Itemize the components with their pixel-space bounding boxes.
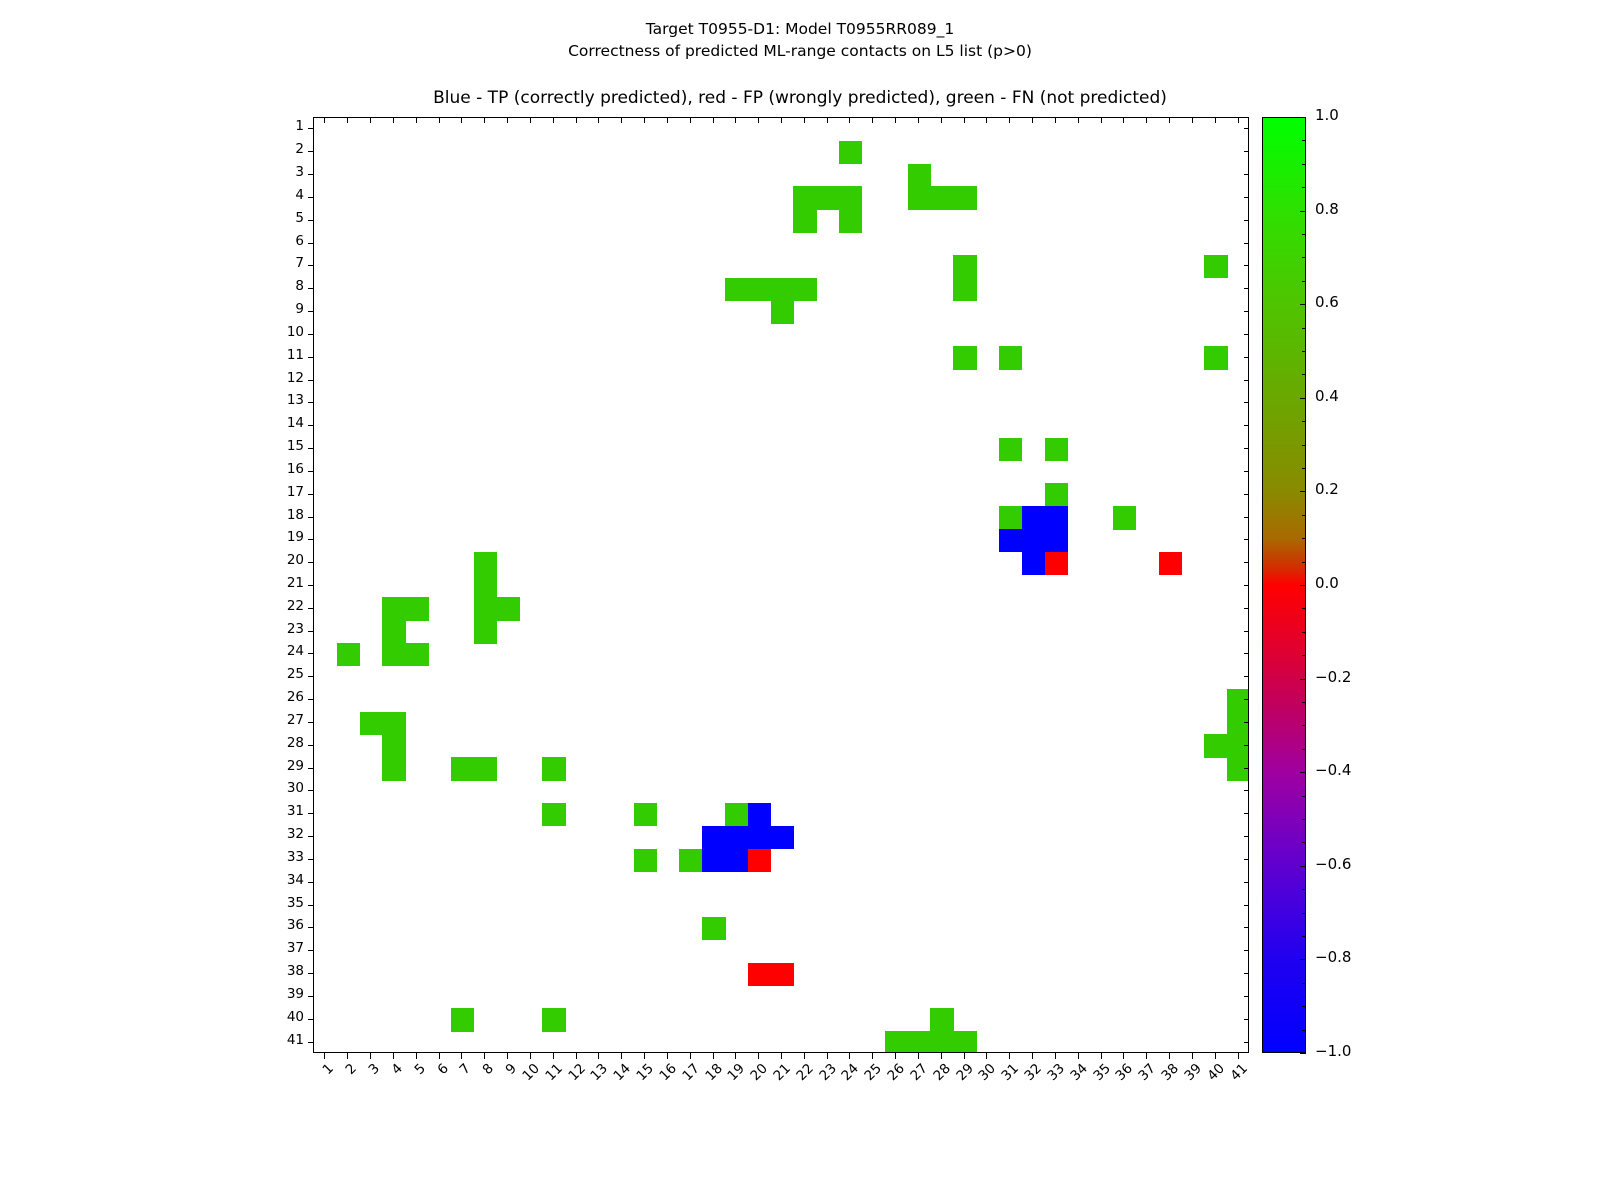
y-tick-mark [308, 562, 313, 563]
x-tick-mark-top [370, 117, 371, 123]
x-tick-mark-top [1169, 117, 1170, 123]
x-tick-mark [1009, 1053, 1010, 1059]
x-tick-mark-top [644, 117, 645, 123]
colorbar-minor-tick [1302, 936, 1306, 937]
y-tick-label: 6 [295, 235, 304, 249]
y-tick-label: 40 [287, 1011, 304, 1025]
y-tick-mark [308, 128, 313, 129]
contact-cell [771, 963, 794, 986]
x-tick-mark-top [895, 117, 896, 123]
y-tick-mark [308, 311, 313, 312]
contact-cell [451, 1008, 474, 1031]
y-tick-mark-right [1244, 790, 1249, 791]
y-tick-label: 9 [295, 303, 304, 317]
colorbar-tick-label: 0.6 [1315, 295, 1339, 310]
colorbar-minor-tick [1302, 1030, 1306, 1031]
x-tick-mark [553, 1053, 554, 1059]
colorbar-tick-mark [1300, 959, 1306, 960]
contact-cell [1204, 734, 1227, 757]
y-tick-label: 11 [287, 349, 304, 363]
colorbar-tick-mark [1300, 491, 1306, 492]
contact-cell [1227, 734, 1249, 757]
contact-cell [793, 278, 816, 301]
contact-cell [1204, 255, 1227, 278]
x-tick-mark-top [1055, 117, 1056, 123]
x-tick-mark-top [324, 117, 325, 123]
colorbar-minor-tick [1302, 234, 1306, 235]
contact-cell [748, 849, 771, 872]
x-tick-mark-top [1078, 117, 1079, 123]
y-tick-label: 41 [287, 1034, 304, 1048]
y-tick-mark [308, 813, 313, 814]
y-tick-mark [308, 517, 313, 518]
contact-cell [793, 209, 816, 232]
y-tick-mark-right [1244, 882, 1249, 883]
contact-cell [953, 278, 976, 301]
y-tick-mark-right [1244, 220, 1249, 221]
contact-cell [542, 757, 565, 780]
y-tick-label: 12 [287, 372, 304, 386]
colorbar-tick-mark [1300, 866, 1306, 867]
y-tick-label: 1 [295, 120, 304, 134]
y-tick-mark [308, 288, 313, 289]
y-tick-label: 19 [287, 531, 304, 545]
contact-cell [908, 186, 931, 209]
y-tick-mark-right [1244, 608, 1249, 609]
x-tick-mark [370, 1053, 371, 1059]
y-tick-label: 3 [295, 166, 304, 180]
y-tick-label: 2 [295, 143, 304, 157]
contact-cell [839, 141, 862, 164]
x-tick-mark [507, 1053, 508, 1059]
x-tick-mark-top [690, 117, 691, 123]
contact-cell [999, 529, 1022, 552]
y-tick-label: 30 [287, 782, 304, 796]
y-tick-label: 35 [287, 897, 304, 911]
contact-cell [702, 917, 725, 940]
x-tick-mark [1101, 1053, 1102, 1059]
x-tick-mark [530, 1053, 531, 1059]
x-tick-mark [1169, 1053, 1170, 1059]
contact-cell [748, 803, 771, 826]
contact-cell [451, 757, 474, 780]
x-tick-mark-top [986, 117, 987, 123]
x-tick-mark-top [781, 117, 782, 123]
contact-cell [748, 963, 771, 986]
y-tick-label: 7 [295, 257, 304, 271]
x-tick-mark-top [1215, 117, 1216, 123]
y-tick-mark-right [1244, 402, 1249, 403]
y-tick-mark-right [1244, 265, 1249, 266]
axes-title-legend: Blue - TP (correctly predicted), red - F… [0, 88, 1600, 108]
contact-cell [816, 186, 839, 209]
y-tick-mark [308, 471, 313, 472]
colorbar-tick-label: −0.2 [1315, 670, 1351, 685]
y-tick-mark [308, 494, 313, 495]
y-tick-mark-right [1244, 151, 1249, 152]
y-tick-mark [308, 402, 313, 403]
x-tick-mark [895, 1053, 896, 1059]
contact-cell [702, 826, 725, 849]
y-tick-mark [308, 1042, 313, 1043]
y-tick-label: 34 [287, 874, 304, 888]
colorbar-tick-mark [1300, 679, 1306, 680]
contact-cell [930, 186, 953, 209]
colorbar-tick-mark [1300, 772, 1306, 773]
y-tick-mark-right [1244, 448, 1249, 449]
x-tick-mark [918, 1053, 919, 1059]
x-tick-mark [347, 1053, 348, 1059]
x-tick-mark [804, 1053, 805, 1059]
colorbar-minor-tick [1302, 140, 1306, 141]
colorbar-tick-label: −1.0 [1315, 1044, 1351, 1059]
y-tick-label: 37 [287, 942, 304, 956]
y-tick-label: 27 [287, 714, 304, 728]
y-tick-label: 24 [287, 645, 304, 659]
x-tick-mark [416, 1053, 417, 1059]
x-tick-mark-top [484, 117, 485, 123]
x-tick-mark [576, 1053, 577, 1059]
colorbar-minor-tick [1302, 632, 1306, 633]
x-tick-mark-top [667, 117, 668, 123]
y-tick-mark [308, 243, 313, 244]
contact-cell [1227, 689, 1249, 712]
x-tick-mark [439, 1053, 440, 1059]
x-tick-mark [484, 1053, 485, 1059]
y-tick-mark-right [1244, 745, 1249, 746]
y-tick-mark [308, 676, 313, 677]
y-tick-label: 18 [287, 509, 304, 523]
contact-cell [1227, 712, 1249, 735]
contact-cell [930, 1031, 953, 1053]
colorbar-tick-mark [1300, 211, 1306, 212]
contact-cell [474, 620, 497, 643]
x-tick-mark-top [553, 117, 554, 123]
colorbar-tick-label: 0.0 [1315, 576, 1339, 591]
x-tick-mark [1238, 1053, 1239, 1059]
y-tick-mark-right [1244, 357, 1249, 358]
x-tick-mark [758, 1053, 759, 1059]
colorbar-tick-label: 0.4 [1315, 389, 1339, 404]
y-tick-mark [308, 768, 313, 769]
y-tick-label: 31 [287, 805, 304, 819]
y-tick-label: 28 [287, 737, 304, 751]
contact-map-cells [314, 118, 1248, 1052]
y-tick-mark [308, 174, 313, 175]
y-tick-mark-right [1244, 334, 1249, 335]
y-tick-mark-right [1244, 585, 1249, 586]
contact-cell [1045, 483, 1068, 506]
y-tick-mark-right [1244, 562, 1249, 563]
x-tick-mark [986, 1053, 987, 1059]
contact-cell [382, 620, 405, 643]
y-tick-mark-right [1244, 905, 1249, 906]
contact-cell [953, 346, 976, 369]
contact-cell [725, 826, 748, 849]
y-tick-mark [308, 1019, 313, 1020]
colorbar-tick-mark [1300, 304, 1306, 305]
y-tick-mark-right [1244, 653, 1249, 654]
colorbar-minor-tick [1302, 749, 1306, 750]
colorbar-minor-tick [1302, 562, 1306, 563]
colorbar-minor-tick [1302, 187, 1306, 188]
y-tick-label: 10 [287, 326, 304, 340]
x-tick-mark [621, 1053, 622, 1059]
colorbar-minor-tick [1302, 281, 1306, 282]
x-tick-mark [1146, 1053, 1147, 1059]
y-tick-mark [308, 608, 313, 609]
colorbar-tick-mark [1300, 1053, 1306, 1054]
contact-cell [1113, 506, 1136, 529]
contact-cell [953, 1031, 976, 1053]
y-tick-mark [308, 653, 313, 654]
figure-suptitle: Target T0955-D1: Model T0955RR089_1 Corr… [0, 18, 1600, 62]
x-tick-mark [827, 1053, 828, 1059]
y-tick-mark-right [1244, 1019, 1249, 1020]
contact-cell [999, 438, 1022, 461]
colorbar-minor-tick [1302, 374, 1306, 375]
contact-cell [542, 803, 565, 826]
colorbar-tick-label: −0.4 [1315, 763, 1351, 778]
y-tick-mark [308, 425, 313, 426]
x-tick-mark [1055, 1053, 1056, 1059]
y-tick-label: 33 [287, 851, 304, 865]
y-tick-mark-right [1244, 128, 1249, 129]
contact-cell [930, 1008, 953, 1031]
contact-cell [1159, 552, 1182, 575]
x-tick-mark-top [416, 117, 417, 123]
y-tick-mark-right [1244, 813, 1249, 814]
colorbar-tick-mark [1300, 398, 1306, 399]
x-tick-mark-top [849, 117, 850, 123]
x-tick-mark [667, 1053, 668, 1059]
y-tick-label: 23 [287, 623, 304, 637]
contact-map-plot[interactable] [313, 117, 1249, 1053]
y-tick-mark-right [1244, 836, 1249, 837]
y-tick-mark-right [1244, 950, 1249, 951]
colorbar-minor-tick [1302, 421, 1306, 422]
y-tick-mark [308, 882, 313, 883]
colorbar-minor-tick [1302, 655, 1306, 656]
x-tick-mark-top [1101, 117, 1102, 123]
y-tick-mark-right [1244, 197, 1249, 198]
contact-cell [382, 757, 405, 780]
contact-cell [1204, 346, 1227, 369]
colorbar-tick-label: 0.8 [1315, 202, 1339, 217]
x-tick-mark-top [439, 117, 440, 123]
x-tick-mark [964, 1053, 965, 1059]
y-tick-mark [308, 357, 313, 358]
x-tick-mark-top [941, 117, 942, 123]
colorbar-minor-tick [1302, 702, 1306, 703]
y-tick-mark-right [1244, 539, 1249, 540]
contact-cell [1022, 529, 1045, 552]
x-tick-mark [713, 1053, 714, 1059]
contact-cell [1045, 529, 1068, 552]
y-tick-label: 4 [295, 189, 304, 203]
x-tick-mark-top [1032, 117, 1033, 123]
contact-cell [908, 164, 931, 187]
y-tick-mark [308, 197, 313, 198]
contact-cell [1045, 506, 1068, 529]
x-tick-mark [849, 1053, 850, 1059]
colorbar-minor-tick [1302, 913, 1306, 914]
contact-cell [748, 826, 771, 849]
colorbar-minor-tick [1302, 796, 1306, 797]
x-tick-mark [1078, 1053, 1079, 1059]
contact-cell [474, 597, 497, 620]
y-tick-label: 17 [287, 486, 304, 500]
colorbar-tick-label: 0.2 [1315, 482, 1339, 497]
colorbar-minor-tick [1302, 351, 1306, 352]
y-tick-mark [308, 220, 313, 221]
x-tick-mark [781, 1053, 782, 1059]
x-tick-mark-top [530, 117, 531, 123]
contact-cell [382, 643, 405, 666]
contact-cell [382, 734, 405, 757]
y-tick-mark-right [1244, 380, 1249, 381]
y-tick-label: 25 [287, 668, 304, 682]
y-tick-mark-right [1244, 471, 1249, 472]
y-tick-label: 15 [287, 440, 304, 454]
colorbar-minor-tick [1302, 608, 1306, 609]
contact-cell [679, 849, 702, 872]
contact-cell [542, 1008, 565, 1031]
colorbar-minor-tick [1302, 1006, 1306, 1007]
x-tick-mark [941, 1053, 942, 1059]
x-tick-mark [1215, 1053, 1216, 1059]
x-tick-mark-top [872, 117, 873, 123]
y-tick-label: 29 [287, 760, 304, 774]
colorbar-minor-tick [1302, 468, 1306, 469]
contact-cell [748, 278, 771, 301]
contact-cell [725, 803, 748, 826]
y-tick-label: 5 [295, 212, 304, 226]
x-tick-mark-top [598, 117, 599, 123]
y-tick-label: 21 [287, 577, 304, 591]
colorbar-minor-tick [1302, 983, 1306, 984]
y-tick-mark [308, 905, 313, 906]
contact-cell [474, 757, 497, 780]
y-tick-mark [308, 722, 313, 723]
contact-cell [634, 849, 657, 872]
x-tick-mark [461, 1053, 462, 1059]
contact-cell [405, 597, 428, 620]
contact-cell [360, 712, 383, 735]
x-tick-mark-top [347, 117, 348, 123]
colorbar-tick-label: −0.8 [1315, 950, 1351, 965]
contact-cell [793, 186, 816, 209]
y-tick-mark [308, 950, 313, 951]
x-tick-mark [1192, 1053, 1193, 1059]
colorbar-minor-tick [1302, 515, 1306, 516]
x-tick-mark-top [918, 117, 919, 123]
x-tick-mark [690, 1053, 691, 1059]
x-tick-mark [1123, 1053, 1124, 1059]
contact-cell [1022, 552, 1045, 575]
y-tick-mark-right [1244, 927, 1249, 928]
contact-cell [999, 506, 1022, 529]
contact-cell [634, 803, 657, 826]
contact-cell [382, 712, 405, 735]
colorbar-tick-mark [1300, 585, 1306, 586]
y-tick-mark-right [1244, 174, 1249, 175]
x-tick-mark [872, 1053, 873, 1059]
y-tick-label: 26 [287, 691, 304, 705]
x-tick-mark-top [1123, 117, 1124, 123]
x-tick-mark [644, 1053, 645, 1059]
contact-cell [702, 849, 725, 872]
x-tick-mark [393, 1053, 394, 1059]
y-tick-mark [308, 790, 313, 791]
y-tick-mark-right [1244, 859, 1249, 860]
y-tick-mark-right [1244, 311, 1249, 312]
contact-cell [953, 186, 976, 209]
y-tick-mark-right [1244, 973, 1249, 974]
y-tick-mark [308, 380, 313, 381]
x-tick-mark-top [1192, 117, 1193, 123]
contact-cell [382, 597, 405, 620]
x-tick-mark-top [1238, 117, 1239, 123]
y-tick-label: 36 [287, 919, 304, 933]
contact-cell [1045, 552, 1068, 575]
contact-cell [1045, 438, 1068, 461]
y-tick-mark [308, 151, 313, 152]
x-tick-mark-top [1009, 117, 1010, 123]
y-tick-mark [308, 585, 313, 586]
y-tick-mark-right [1244, 996, 1249, 997]
y-tick-mark-right [1244, 494, 1249, 495]
colorbar-minor-tick [1302, 725, 1306, 726]
colorbar-minor-tick [1302, 889, 1306, 890]
y-tick-label: 22 [287, 600, 304, 614]
y-tick-label: 14 [287, 417, 304, 431]
y-tick-mark-right [1244, 517, 1249, 518]
contact-cell [725, 278, 748, 301]
contact-cell [725, 849, 748, 872]
contact-cell [337, 643, 360, 666]
x-tick-mark-top [507, 117, 508, 123]
y-tick-mark [308, 448, 313, 449]
y-tick-mark-right [1244, 1042, 1249, 1043]
contact-cell [474, 575, 497, 598]
y-tick-mark [308, 631, 313, 632]
y-tick-label: 39 [287, 988, 304, 1002]
x-tick-mark-top [713, 117, 714, 123]
contact-cell [999, 346, 1022, 369]
colorbar-minor-tick [1302, 445, 1306, 446]
contact-cell [771, 278, 794, 301]
y-tick-label: 16 [287, 463, 304, 477]
y-tick-mark [308, 265, 313, 266]
y-tick-mark-right [1244, 425, 1249, 426]
y-tick-mark-right [1244, 722, 1249, 723]
contact-cell [885, 1031, 908, 1053]
x-tick-mark-top [461, 117, 462, 123]
y-tick-mark [308, 539, 313, 540]
suptitle-line-2: Correctness of predicted ML-range contac… [0, 40, 1600, 62]
colorbar-minor-tick [1302, 257, 1306, 258]
colorbar-tick-label: −0.6 [1315, 857, 1351, 872]
contact-cell [771, 301, 794, 324]
colorbar-tick-label: 1.0 [1315, 108, 1339, 123]
contact-cell [953, 255, 976, 278]
contact-cell [497, 597, 520, 620]
contact-cell [771, 826, 794, 849]
x-tick-mark-top [964, 117, 965, 123]
y-tick-label: 20 [287, 554, 304, 568]
x-tick-mark [324, 1053, 325, 1059]
